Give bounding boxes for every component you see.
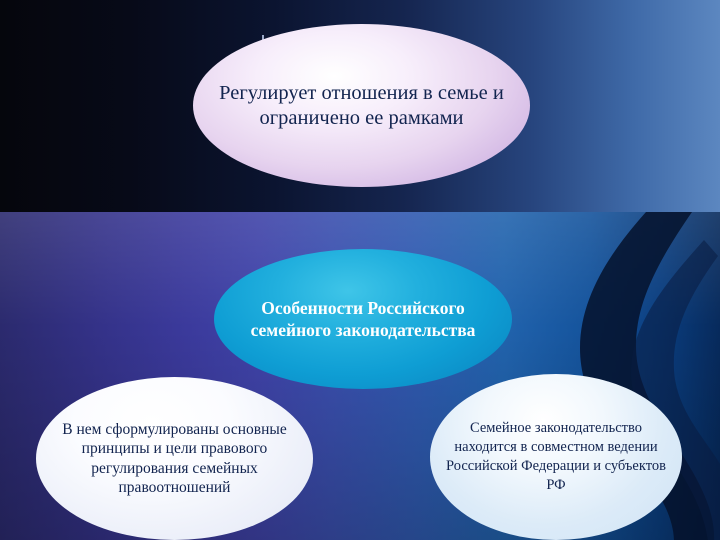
ellipse-center-title[interactable]: Особенности Российского семейного законо… xyxy=(214,249,512,389)
ellipse-regulates-family-relations[interactable]: Регулирует отношения в семье и ограничен… xyxy=(193,24,530,187)
slide-canvas: Регулирует отношения в семье и ограничен… xyxy=(0,0,720,540)
ellipse-principles-and-goals[interactable]: В нем сформулированы основные принципы и… xyxy=(36,377,313,540)
ellipse-center-label: Особенности Российского семейного законо… xyxy=(214,297,512,341)
ellipse-left-label: В нем сформулированы основные принципы и… xyxy=(36,420,313,498)
ellipse-top-label: Регулирует отношения в семье и ограничен… xyxy=(193,81,530,131)
ellipse-right-label: Семейное законодательство находится в со… xyxy=(430,419,682,494)
ellipse-joint-jurisdiction[interactable]: Семейное законодательство находится в со… xyxy=(430,374,682,540)
